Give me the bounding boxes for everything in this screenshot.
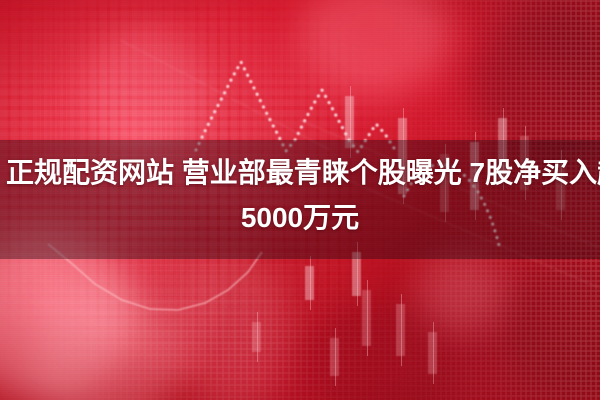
candlestick-body [330, 338, 339, 376]
glow-blob-upper-mid [300, 0, 450, 95]
candlestick-wick [335, 328, 336, 386]
glow-blob-right-low [500, 250, 600, 400]
candlestick-wick [257, 312, 258, 362]
headline-line-1: 正规配资网站 营业部最青睐个股曝光 7股净买入超 [6, 150, 594, 195]
glow-blob-left [0, 230, 130, 400]
candlestick-body [252, 322, 261, 352]
candlestick-wick [310, 256, 311, 310]
glow-blob-bottom-left [30, 290, 180, 400]
candlestick-body [396, 304, 405, 356]
glow-blob-bottom-mid [300, 300, 460, 400]
candlestick-wick [367, 280, 368, 356]
series-sweeping-curve [48, 244, 262, 310]
candlestick-body [345, 96, 354, 148]
candlestick-body [362, 290, 371, 346]
candlestick-wick [433, 322, 434, 384]
headline-line-2: 5000万元 [6, 195, 594, 240]
glow-blob-center-left [86, 28, 206, 158]
series-dotted-zigzag-trend [196, 62, 394, 152]
banner-image: 正规配资网站 营业部最青睐个股曝光 7股净买入超 5000万元 [0, 0, 600, 400]
page-title: 正规配资网站 营业部最青睐个股曝光 7股净买入超 5000万元 [0, 150, 600, 240]
candlestick-body [305, 266, 314, 300]
candlestick-wick [350, 86, 351, 158]
glow-blob-pink-right [416, 252, 506, 332]
glow-blob-right-dark [470, 10, 600, 160]
glow-blob-mid [170, 255, 290, 400]
candlestick-body [352, 252, 361, 296]
candlestick-wick [401, 294, 402, 366]
candlestick-body [428, 332, 437, 374]
candlestick-wick [357, 242, 358, 306]
